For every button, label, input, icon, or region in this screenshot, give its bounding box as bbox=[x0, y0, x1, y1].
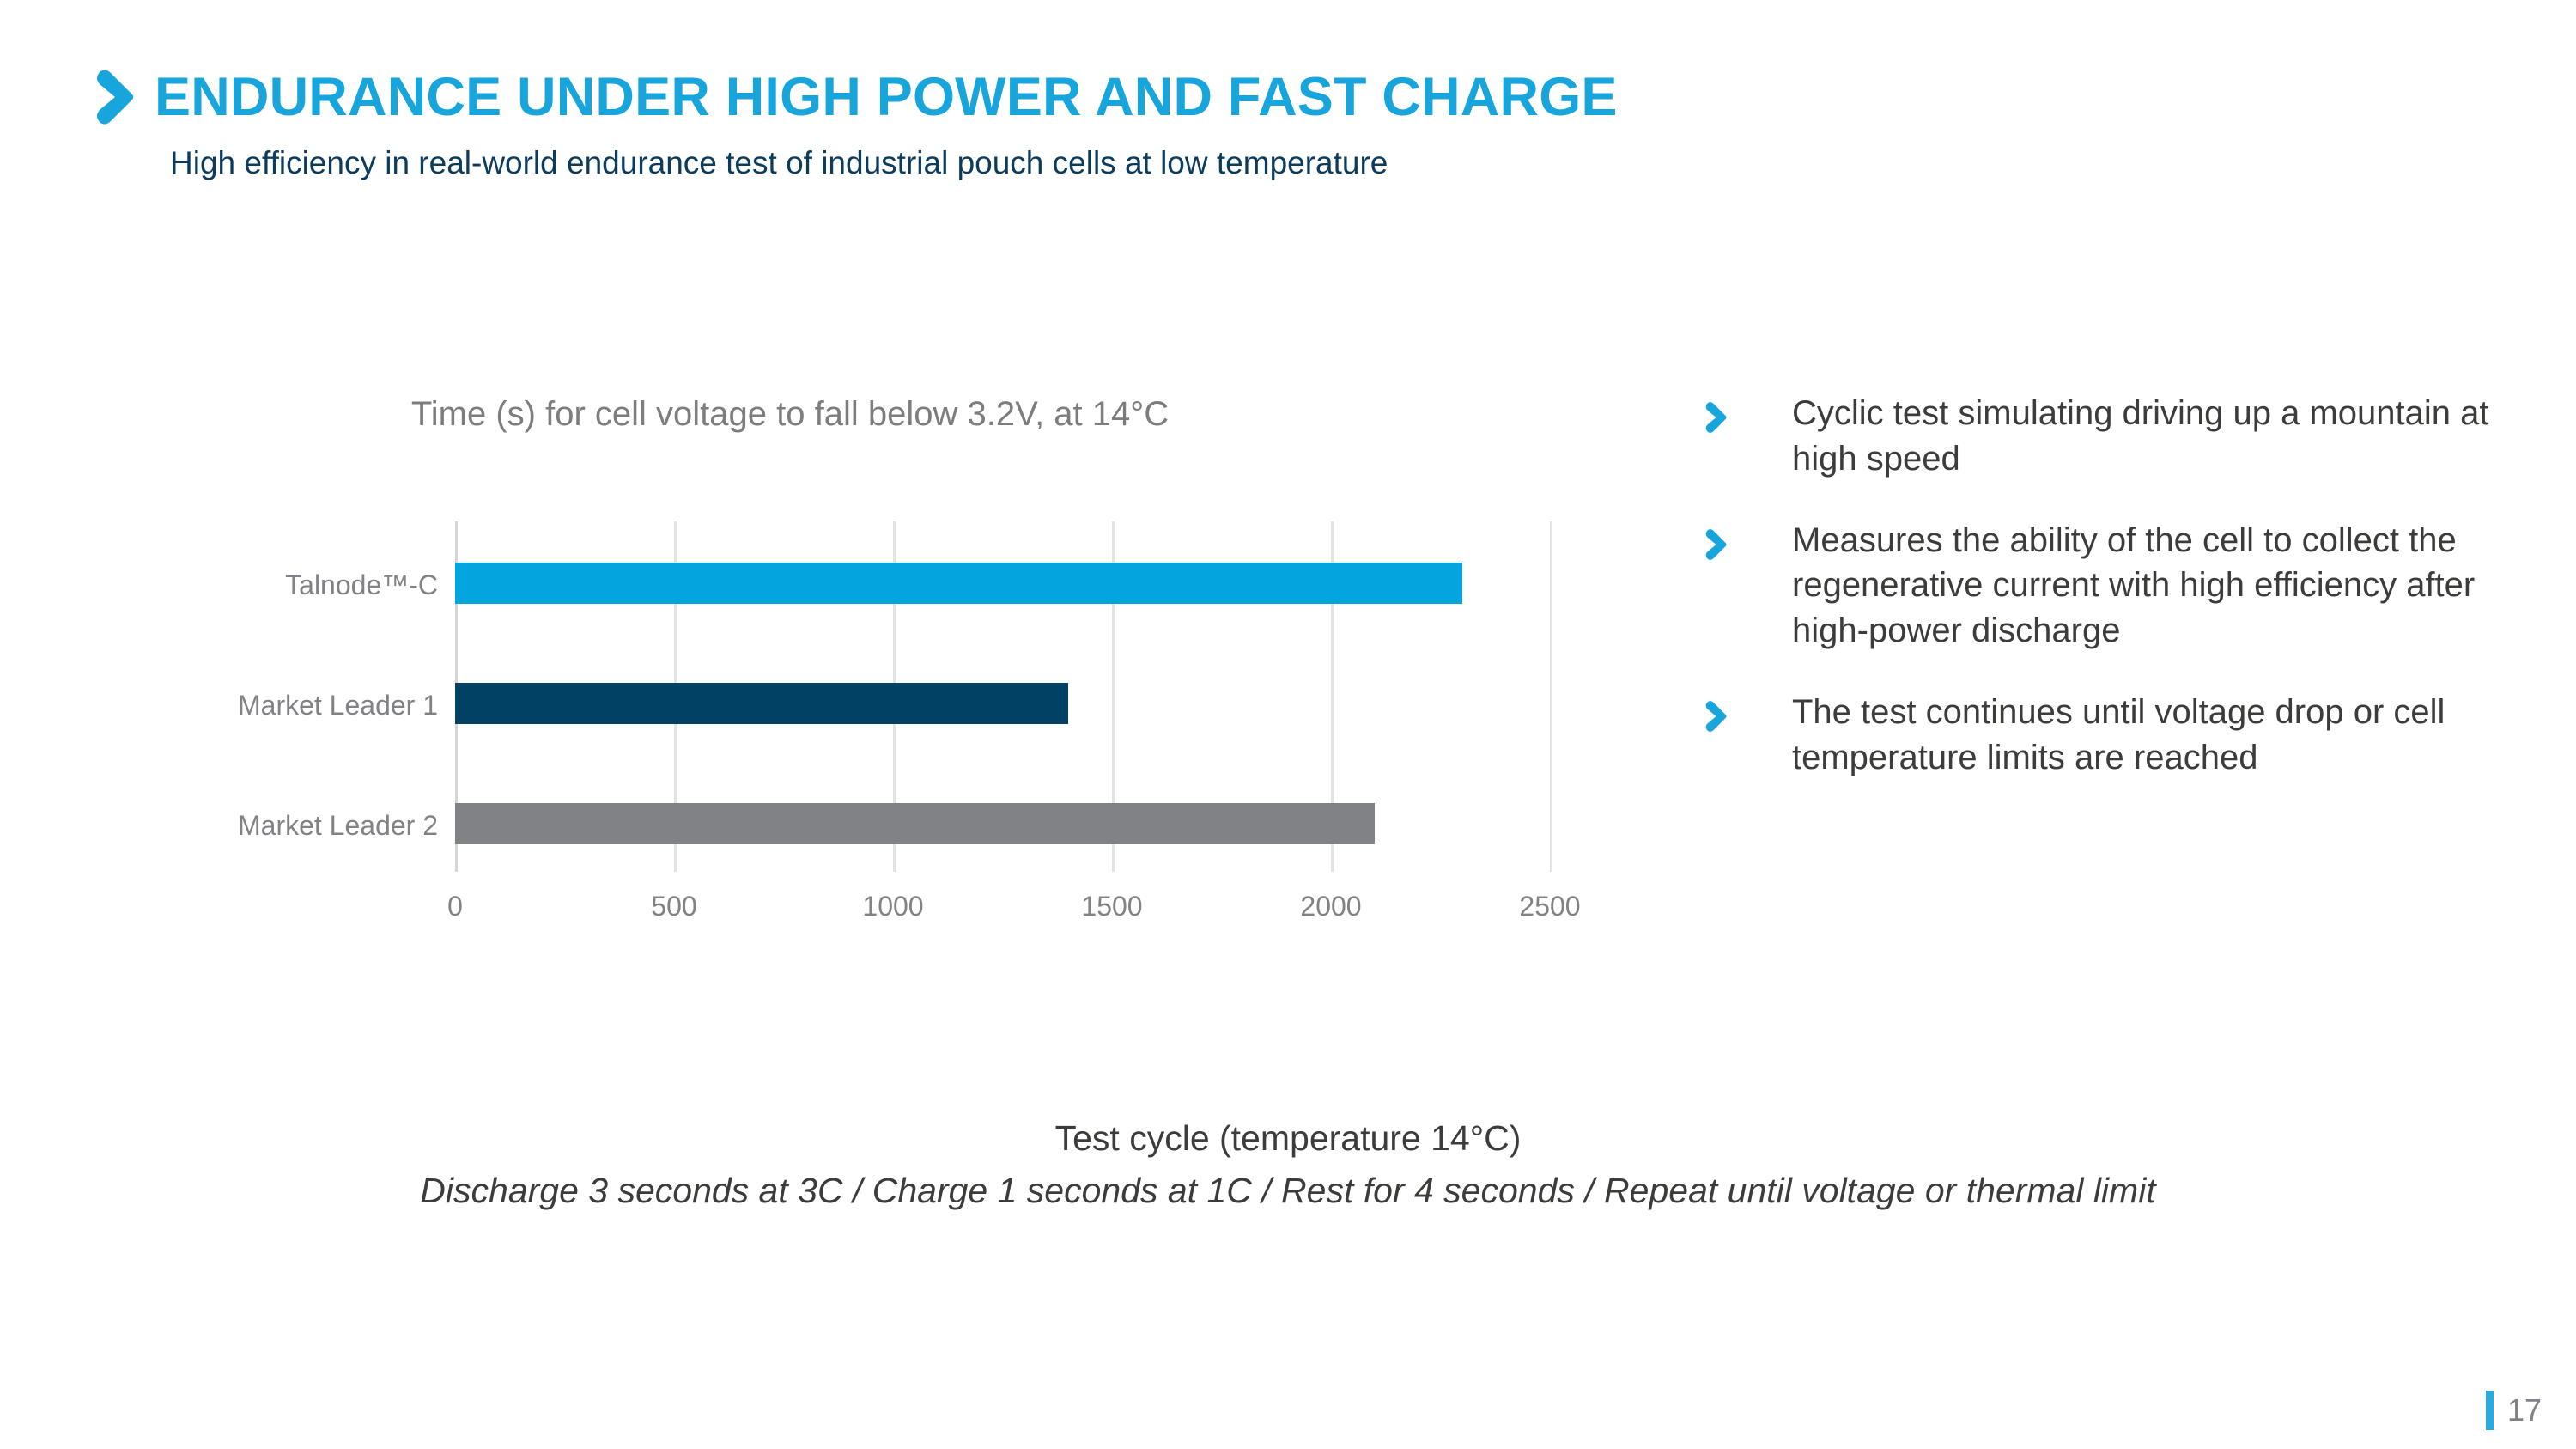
bar-market-leader-1[interactable] bbox=[455, 683, 1068, 724]
chart-plot-area: Talnode™-C Market Leader 1 Market Leader… bbox=[455, 521, 1550, 872]
bar-market-leader-2[interactable] bbox=[455, 803, 1375, 844]
bullet-text-0: Cyclic test simulating driving up a moun… bbox=[1792, 391, 2520, 482]
chevron-right-icon bbox=[94, 69, 134, 125]
xtick-label-1: 500 bbox=[651, 891, 696, 922]
slide-header: ENDURANCE UNDER HIGH POWER AND FAST CHAR… bbox=[94, 69, 2241, 182]
bullet-text-1: Measures the ability of the cell to coll… bbox=[1792, 518, 2520, 654]
xtick-label-3: 1500 bbox=[1081, 891, 1142, 922]
bar-talnode-c[interactable] bbox=[455, 563, 1462, 604]
bullet-text-2: The test continues until voltage drop or… bbox=[1792, 690, 2520, 781]
footer-detail: Discharge 3 seconds at 3C / Charge 1 sec… bbox=[0, 1169, 2576, 1213]
list-item: The test continues until voltage drop or… bbox=[1704, 690, 2520, 781]
xtick-label-5: 2500 bbox=[1519, 891, 1580, 922]
footer-title: Test cycle (temperature 14°C) bbox=[0, 1117, 2576, 1160]
xtick-label-2: 1000 bbox=[862, 891, 923, 922]
list-item: Measures the ability of the cell to coll… bbox=[1704, 518, 2520, 654]
category-label-2: Market Leader 2 bbox=[0, 810, 438, 842]
title-row: ENDURANCE UNDER HIGH POWER AND FAST CHAR… bbox=[94, 69, 2241, 125]
category-label-0: Talnode™-C bbox=[0, 569, 438, 601]
category-label-1: Market Leader 1 bbox=[0, 690, 438, 721]
chevron-right-icon bbox=[1704, 401, 1727, 434]
bullet-list: Cyclic test simulating driving up a moun… bbox=[1704, 391, 2520, 817]
gridline-2500 bbox=[1550, 521, 1552, 872]
chevron-right-icon bbox=[1704, 700, 1727, 733]
footer-note: Test cycle (temperature 14°C) Discharge … bbox=[0, 1117, 2576, 1214]
page-title: ENDURANCE UNDER HIGH POWER AND FAST CHAR… bbox=[155, 70, 1618, 125]
xtick-label-4: 2000 bbox=[1300, 891, 1361, 922]
page-number-accent-bar bbox=[2486, 1391, 2494, 1430]
bar-chart: Time (s) for cell voltage to fall below … bbox=[155, 395, 1666, 962]
page-number-text: 17 bbox=[2507, 1392, 2542, 1428]
page-subtitle: High efficiency in real-world endurance … bbox=[170, 144, 2241, 182]
chevron-right-icon bbox=[1704, 528, 1727, 561]
xtick-label-0: 0 bbox=[447, 891, 463, 922]
page-number: 17 bbox=[2486, 1391, 2542, 1430]
list-item: Cyclic test simulating driving up a moun… bbox=[1704, 391, 2520, 482]
chart-title: Time (s) for cell voltage to fall below … bbox=[155, 395, 1425, 434]
